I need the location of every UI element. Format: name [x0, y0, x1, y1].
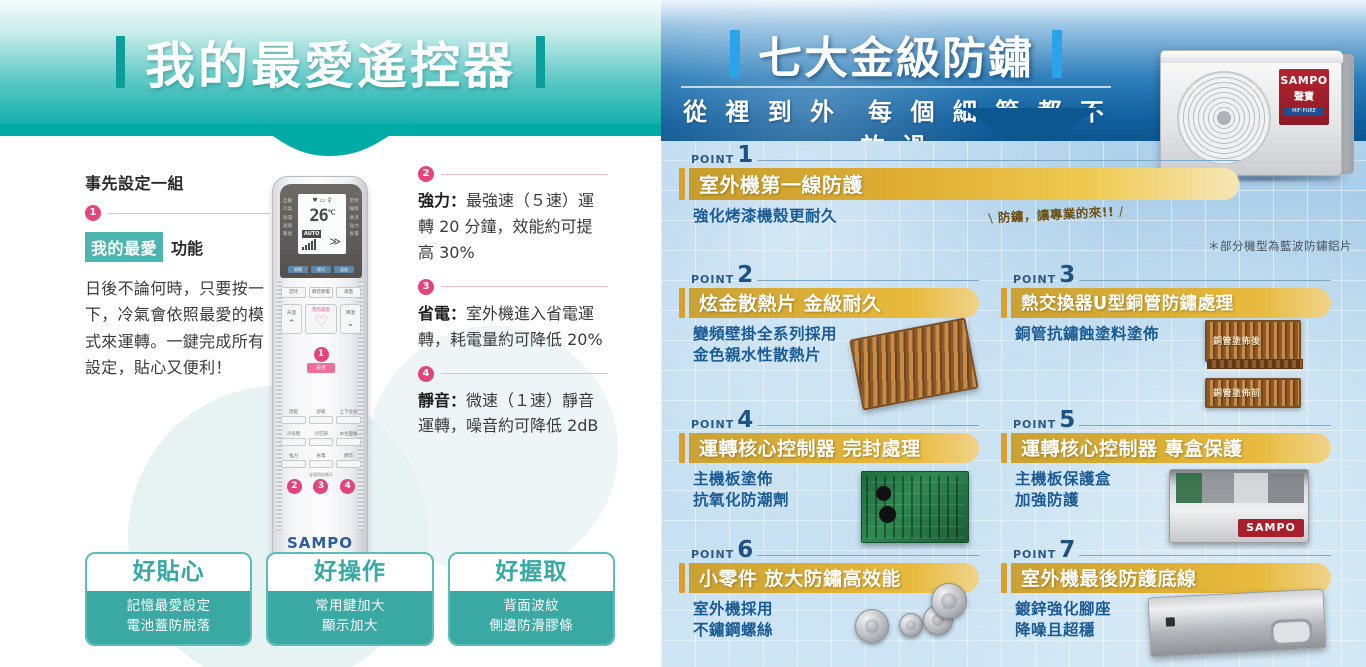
remote-brand-name: SAMPO	[273, 534, 367, 552]
point-banner-2: 炫金散熱片 金級耐久	[679, 288, 979, 318]
feature-text: 省電：室外機進入省電運轉，耗電量約可降低 20%	[418, 301, 608, 353]
remote-key-power-boost[interactable]: 強力	[281, 453, 306, 468]
point-banner-1: 室外機第一線防護	[679, 168, 1239, 200]
benefit-box: 好握取 背面波紋 側邊防滑膠條	[448, 552, 615, 646]
point-block-3: POINT 3 熱交換器U型銅管防鏽處理 銅管抗鏽蝕塗料塗佈 銅管塗佈後 銅管塗…	[1001, 266, 1331, 345]
point-block-2: POINT 2 炫金散熱片 金級耐久 變頻壁掛全系列採用 金色親水性散熱片	[679, 266, 979, 367]
point-rule	[1079, 555, 1331, 556]
left-text-column: 事先設定一組 1 我的最愛 功能 日後不論何時，只要按一下，冷氣會依照最愛的模式…	[85, 170, 270, 382]
point-word: POINT	[691, 548, 734, 561]
banner-tick-icon	[1001, 288, 1007, 318]
benefit-box: 好操作 常用鍵加大 顯示加大	[266, 552, 433, 646]
rule-line	[441, 373, 608, 374]
feature-number: 4	[418, 366, 434, 382]
copper-pipe-before-photo: 銅管塗佈前	[1205, 378, 1301, 408]
rule-line	[441, 286, 608, 287]
point-rule	[1079, 425, 1331, 426]
point-banner-7: 室外機最後防護底線	[1001, 563, 1331, 593]
feature-number: 2	[418, 166, 434, 182]
blue-bar-right-icon	[1052, 30, 1062, 78]
benefit-line: 記憶最愛設定	[87, 597, 250, 617]
banner-tick-icon	[679, 168, 685, 200]
lcd-fan-bars-icon	[302, 239, 316, 250]
point-desc-1: 強化烤漆機殼更耐久	[679, 206, 1239, 228]
outdoor-unit-top	[1161, 51, 1343, 63]
right-panel-anticorrosion: 七大金級防鏽 從 裡 到 外 每 個 細 節 都 不 放 過 SAMPO 聲寶 …	[661, 0, 1366, 667]
title-bar-right-icon	[536, 36, 545, 88]
remote-lcd: ♥ ▭ ⚲ 26℃ AUTO ≫	[298, 194, 346, 254]
point-label-4: POINT 4	[679, 411, 979, 431]
remote-lower-caption: 省電節能顯示	[281, 472, 361, 478]
point-number: 7	[1059, 541, 1076, 561]
banner-text: 運轉核心控制器 完封處理	[699, 434, 921, 461]
copper-pipe-photo-group: 銅管塗佈後 銅管塗佈前	[1205, 320, 1301, 408]
benefit-boxes: 好貼心 記憶最愛設定 電池蓋防脫落 好操作 常用鍵加大 顯示加大 好握取	[85, 552, 615, 646]
remote-key-favorite[interactable]: 我的最愛 ♡	[305, 304, 337, 334]
point-number: 6	[737, 541, 754, 561]
remote-mini-button-power[interactable]: 開關	[288, 266, 308, 273]
point-label-6: POINT 6	[679, 541, 979, 561]
title-bar-left-icon	[116, 36, 125, 88]
favorite-tag-suffix: 功能	[171, 235, 203, 259]
remote-key-temp-up[interactable]: 升溫⌃	[281, 304, 302, 334]
banner-fill: 室外機第一線防護	[689, 168, 1239, 200]
point-rule	[757, 555, 979, 556]
lcd-airflow-icon: ≫	[329, 235, 341, 248]
remote-favorite-row: 升溫⌃ 我的最愛 ♡ 降溫⌄	[281, 304, 361, 334]
screw-icon	[899, 613, 923, 637]
step-number-1: 1	[85, 205, 101, 221]
left-panel-remote: 我的最愛遙控器 事先設定一組 1 我的最愛 功能	[0, 0, 661, 667]
benefit-line: 電池蓋防脫落	[87, 617, 250, 637]
point-number: 5	[1059, 411, 1076, 431]
banner-text: 室外機最後防護底線	[1021, 564, 1197, 591]
step-1-rule: 1	[85, 205, 270, 221]
favorite-tag: 我的最愛	[85, 232, 163, 262]
feature-text: 強力：最強速（５速）運轉 20 分鐘，效能約可提高 30%	[418, 188, 608, 266]
copper-pipe-after-photo: 銅管塗佈後	[1205, 320, 1301, 362]
point-label-1: POINT 1	[679, 146, 1239, 166]
point-block-4: POINT 4 運轉核心控制器 完封處理 主機板塗佈 抗氧化防潮劑	[679, 411, 979, 512]
banner-tick-icon	[679, 288, 685, 318]
point-banner-4: 運轉核心控制器 完封處理	[679, 433, 979, 463]
benefit-line: 顯示加大	[268, 617, 431, 637]
benefit-box: 好貼心 記憶最愛設定 電池蓋防脫落	[85, 552, 252, 646]
point-banner-3: 熱交換器U型銅管防鏽處理	[1001, 288, 1331, 318]
point-word: POINT	[1013, 273, 1056, 286]
point-rule	[1079, 280, 1331, 281]
point-number: 4	[737, 411, 754, 431]
feature-tag-row: 我的最愛 功能	[85, 232, 270, 262]
remote-key-row-3: 強力 省電 靜音	[281, 453, 361, 468]
point-number: 3	[1059, 266, 1076, 286]
lcd-temperature: 26℃	[298, 206, 346, 226]
benefit-title: 好握取	[450, 554, 613, 591]
left-title-wrap: 我的最愛遙控器	[0, 26, 661, 98]
remote-key-backlight[interactable]: 冷光燈	[281, 431, 306, 446]
point-word: POINT	[1013, 548, 1056, 561]
callout-number-1: 1	[314, 347, 329, 362]
lcd-mode-badge: AUTO	[302, 230, 321, 238]
point-block-6: POINT 6 小零件 放大防鏽高效能 室外機採用 不鏽鋼螺絲	[679, 541, 979, 642]
favorite-callout: 1 設定	[307, 347, 335, 373]
remote-key-row-2: 冷光燈 冷空調 水位面板	[281, 431, 361, 446]
controller-internals	[1176, 473, 1304, 503]
benefit-body: 記憶最愛設定 電池蓋防脫落	[87, 591, 250, 644]
banner-fill: 熱交換器U型銅管防鏽處理	[1011, 288, 1331, 318]
point-rule	[757, 280, 979, 281]
benefit-body: 背面波紋 側邊防滑膠條	[450, 591, 613, 644]
benefit-title: 好操作	[268, 554, 431, 591]
point-word: POINT	[691, 418, 734, 431]
feature-rule: 2	[418, 166, 608, 182]
banner-fill: 運轉核心控制器 完封處理	[689, 433, 979, 463]
pipe-ends-icon	[1207, 359, 1303, 369]
blue-bar-left-icon	[730, 30, 740, 78]
remote-key-eco[interactable]: 省電	[309, 453, 334, 468]
point-banner-5: 運轉核心控制器 專盒保護	[1001, 433, 1331, 463]
poster-root: 我的最愛遙控器 事先設定一組 1 我的最愛 功能	[0, 0, 1366, 667]
logo-line-2: 聲寶	[1279, 88, 1329, 103]
sampo-logo: SAMPO 聲寶 MIF-PURE	[1279, 69, 1329, 125]
banner-tick-icon	[1001, 563, 1007, 593]
banner-text: 運轉核心控制器 專盒保護	[1021, 434, 1243, 461]
benefit-body: 常用鍵加大 顯示加大	[268, 591, 431, 644]
banner-fill: 炫金散熱片 金級耐久	[689, 288, 979, 318]
remote-side-labels-right: 定時睡眠清淨強力省電	[344, 198, 359, 240]
logo-line-1: SAMPO	[1279, 74, 1329, 87]
copper-pipe-before-label: 銅管塗佈前	[1213, 386, 1261, 399]
point-word: POINT	[1013, 418, 1056, 431]
point-rule	[757, 160, 1239, 161]
remote-key-row-top: 定時 靜音節電 風量	[281, 287, 361, 298]
banner-text: 炫金散熱片 金級耐久	[699, 289, 882, 316]
point-block-1: POINT 1 室外機第一線防護 強化烤漆機殼更耐久	[679, 146, 1239, 227]
remote-button-grid: 定時 靜音節電 風量 升溫⌃ 我的最愛 ♡ 降溫⌄	[281, 287, 361, 338]
point-number: 1	[737, 146, 754, 166]
left-header: 我的最愛遙控器	[0, 0, 661, 136]
benefit-line: 常用鍵加大	[268, 597, 431, 617]
left-features-column: 2 強力：最強速（５速）運轉 20 分鐘，效能約可提高 30% 3 省電：室外機…	[418, 166, 608, 452]
remote-number-callouts: 2 3 4	[281, 479, 361, 494]
heart-icon: ♡	[306, 314, 336, 329]
kicker-text: 事先設定一組	[85, 170, 270, 194]
banner-tick-icon	[679, 563, 685, 593]
lcd-status-icons: ♥ ▭ ⚲	[303, 196, 341, 204]
remote-mini-button-mode[interactable]: 模式	[311, 266, 331, 273]
banner-fill: 運轉核心控制器 專盒保護	[1011, 433, 1331, 463]
banner-tick-icon	[679, 433, 685, 463]
screw-icon	[931, 583, 967, 619]
remote-control-illustration: 自動冷氣除濕送風暖氣 定時睡眠清淨強力省電 ♥ ▭ ⚲ 26℃ AUTO ≫ 開…	[272, 176, 368, 580]
banner-fill: 室外機最後防護底線	[1011, 563, 1331, 593]
main-board-photo	[861, 471, 969, 543]
point-rule	[757, 425, 979, 426]
remote-key-swing[interactable]: 上下左右	[336, 409, 361, 424]
feature-rule: 3	[418, 279, 608, 295]
left-body-text: 日後不論何時，只要按一下，冷氣會依照最愛的模式來運轉。一鍵完成所有設定，貼心又便…	[85, 276, 270, 382]
remote-key-sleep[interactable]: 舒眠	[309, 409, 334, 424]
galvanized-base-photo	[1148, 588, 1327, 657]
callout-number-2: 2	[287, 479, 302, 494]
left-content: 事先設定一組 1 我的最愛 功能 日後不論何時，只要按一下，冷氣會依照最愛的模式…	[0, 136, 661, 667]
feature-text: 靜音：微速（１速）靜音運轉，噪音約可降低 2dB	[418, 388, 608, 440]
point-label-7: POINT 7	[1001, 541, 1331, 561]
point-label-5: POINT 5	[1001, 411, 1331, 431]
rule-line	[441, 174, 608, 175]
callout-chip-setting: 設定	[307, 363, 335, 373]
logo-line-3: MIF-PURE	[1284, 107, 1324, 115]
remote-key-fan[interactable]: 風量	[336, 287, 361, 298]
feature-item: 4 靜音：微速（１速）靜音運轉，噪音約可降低 2dB	[418, 366, 608, 440]
point-block-7: POINT 7 室外機最後防護底線 鍍鋅強化腳座 降噪且超穩	[1001, 541, 1331, 642]
point-number: 2	[737, 266, 754, 286]
banner-text: 室外機第一線防護	[699, 169, 863, 198]
screw-icon	[855, 609, 889, 643]
remote-key-coolair[interactable]: 冷空調	[309, 431, 334, 446]
remote-lower-keys: 功能 舒眠 上下左右 冷光燈 冷空調 水位面板 強力 省電 靜音 省電節能顯示	[281, 409, 361, 478]
point-word: POINT	[691, 153, 734, 166]
header-bottom-wave	[841, 108, 1171, 141]
left-page-title: 我的最愛遙控器	[145, 26, 516, 98]
remote-key-function[interactable]: 功能	[281, 409, 306, 424]
point-block-5: POINT 5 運轉核心控制器 專盒保護 主機板保護盒 加強防護 SAMPO	[1001, 411, 1331, 512]
callout-number-3: 3	[313, 479, 328, 494]
remote-key-silent[interactable]: 靜音	[336, 453, 361, 468]
controller-box-photo: SAMPO	[1169, 469, 1309, 543]
callout-number-4: 4	[340, 479, 355, 494]
remote-display-panel: 自動冷氣除濕送風暖氣 定時睡眠清淨強力省電 ♥ ▭ ⚲ 26℃ AUTO ≫ 開…	[280, 184, 362, 278]
remote-key-timer[interactable]: 定時	[281, 287, 306, 298]
copper-pipe-after-label: 銅管塗佈後	[1213, 334, 1261, 347]
remote-side-labels-left: 自動冷氣除濕送風暖氣	[283, 198, 298, 240]
rule-line	[108, 213, 270, 214]
right-page-title: 七大金級防鏽	[758, 22, 1034, 86]
right-title-wrap: 七大金級防鏽	[681, 22, 1111, 86]
remote-mini-button-temp[interactable]: 溫度	[334, 266, 354, 273]
feature-item: 3 省電：室外機進入省電運轉，耗電量約可降低 20%	[418, 279, 608, 353]
stainless-screws-photo	[855, 583, 975, 647]
benefit-line: 側邊防滑膠條	[450, 617, 613, 637]
remote-mini-buttons: 開關 模式 溫度	[288, 266, 354, 273]
benefit-title: 好貼心	[87, 554, 250, 591]
remote-key-quiet-eco[interactable]: 靜音節電	[309, 287, 334, 298]
aluminum-note: ＊部分機型為藍波防鏽鋁片	[1208, 238, 1352, 254]
controller-box-brand: SAMPO	[1238, 519, 1304, 537]
feature-rule: 4	[418, 366, 608, 382]
banner-tick-icon	[1001, 433, 1007, 463]
remote-key-panel[interactable]: 水位面板	[336, 431, 361, 446]
point-label-2: POINT 2	[679, 266, 979, 286]
feature-item: 2 強力：最強速（５速）運轉 20 分鐘，效能約可提高 30%	[418, 166, 608, 266]
benefit-line: 背面波紋	[450, 597, 613, 617]
remote-key-temp-down[interactable]: 降溫⌄	[340, 304, 361, 334]
feature-number: 3	[418, 279, 434, 295]
remote-key-row-1: 功能 舒眠 上下左右	[281, 409, 361, 424]
point-label-3: POINT 3	[1001, 266, 1331, 286]
point-word: POINT	[691, 273, 734, 286]
banner-text: 熱交換器U型銅管防鏽處理	[1021, 290, 1234, 315]
